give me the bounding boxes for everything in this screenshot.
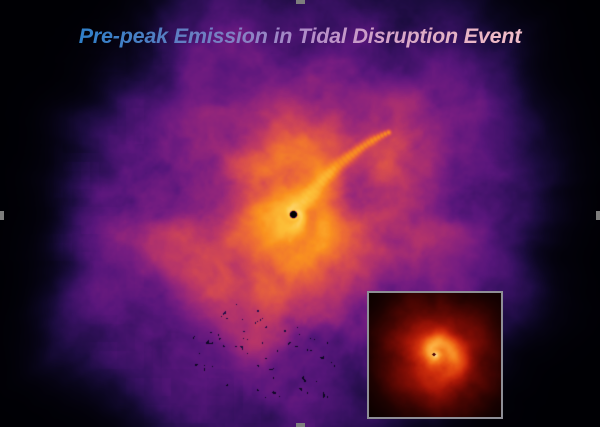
figure-root: Pre-peak Emission in Tidal Disruption Ev… [0,0,600,427]
tidal-disruption-simulation-canvas [0,0,600,427]
optical-depth-inset-panel [367,291,503,419]
resize-handle-right[interactable] [596,211,600,220]
resize-handle-bottom[interactable] [296,423,305,427]
resize-handle-left[interactable] [0,211,4,220]
optical-depth-inset-canvas [369,293,501,417]
resize-handle-top[interactable] [296,0,305,4]
